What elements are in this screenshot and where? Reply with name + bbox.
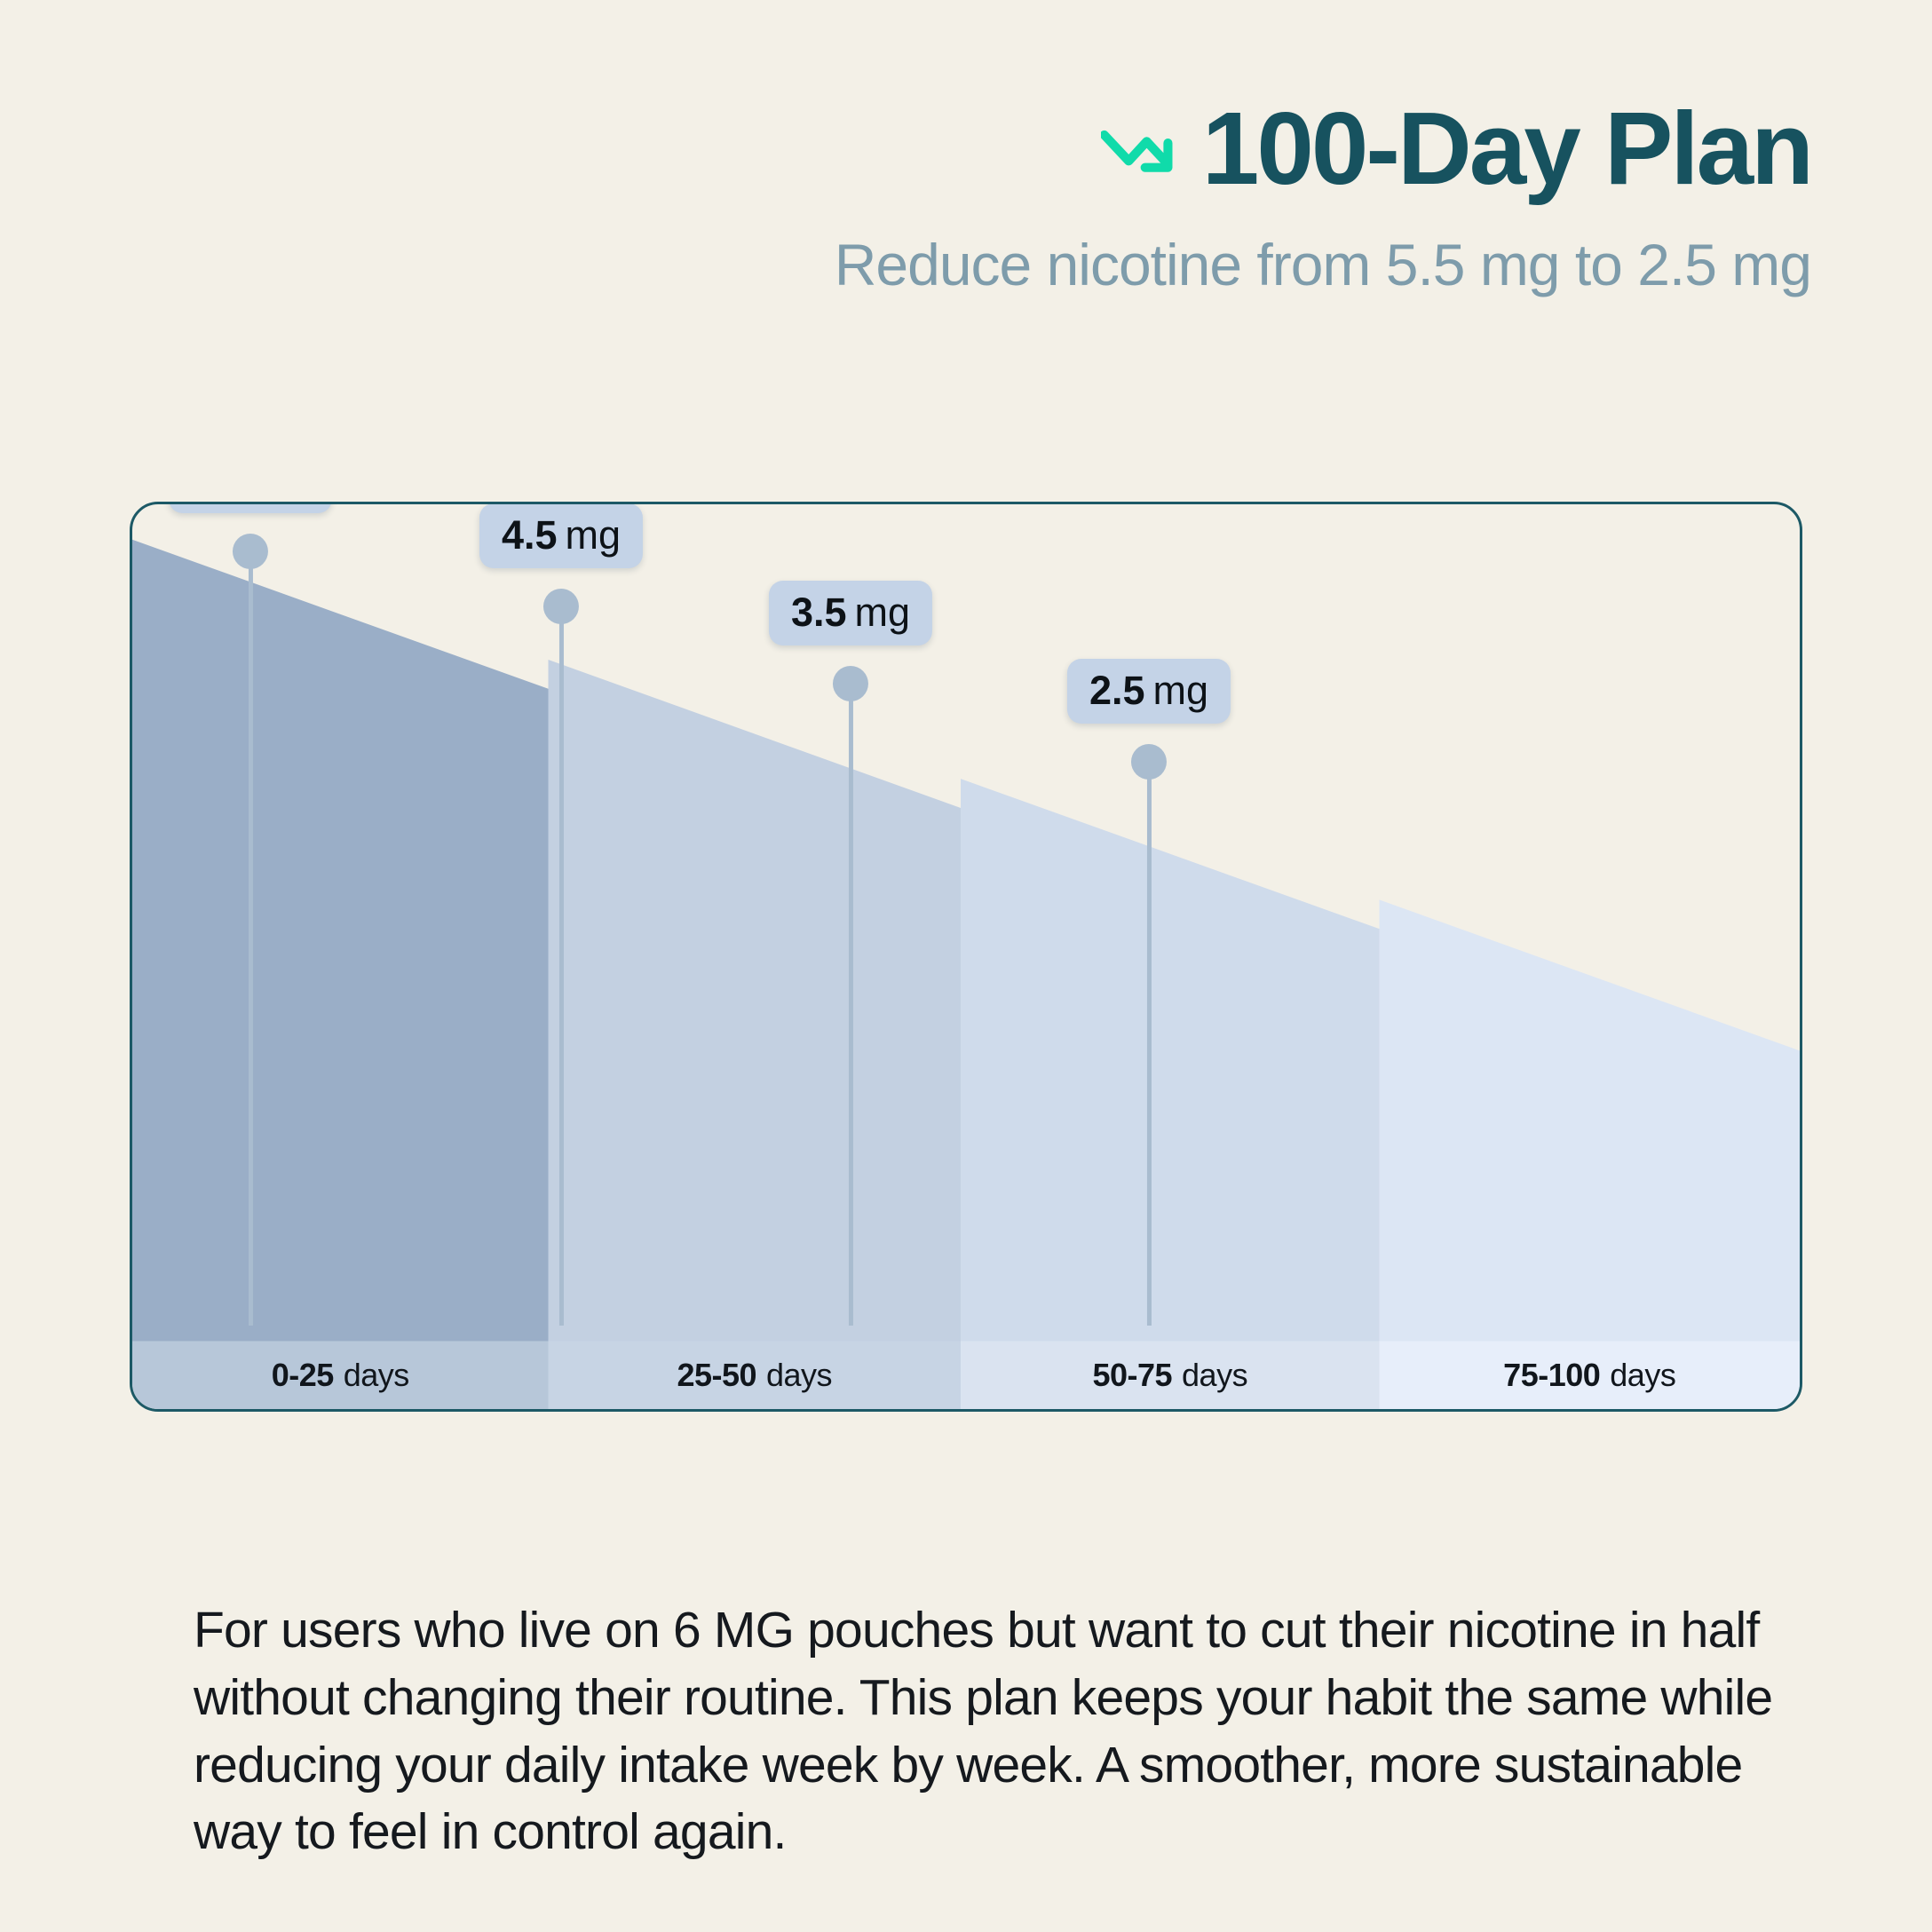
axis-labels-row: 0-25 days 25-50 days 50-75 days 75-100 d… [132, 1341, 1800, 1409]
chart-card: 0-25 days 25-50 days 50-75 days 75-100 d… [130, 502, 1802, 1412]
axis-range-0: 0-25 [272, 1357, 334, 1394]
axis-unit-1: days [766, 1357, 832, 1394]
axis-unit-3: days [1610, 1357, 1675, 1394]
axis-unit-2: days [1182, 1357, 1247, 1394]
page-subtitle: Reduce nicotine from 5.5 mg to 2.5 mg [0, 233, 1811, 297]
axis-label-50-75: 50-75 days [961, 1341, 1380, 1409]
axis-range-1: 25-50 [677, 1357, 756, 1394]
axis-label-0-25: 0-25 days [132, 1341, 549, 1409]
area-segment-3 [961, 779, 1379, 1341]
page-title: 100-Day Plan [1202, 96, 1811, 201]
area-segment-1 [132, 540, 549, 1342]
axis-label-75-100: 75-100 days [1380, 1341, 1800, 1409]
description-paragraph: For users who live on 6 MG pouches but w… [194, 1597, 1801, 1866]
chart-segments [132, 540, 1800, 1342]
area-segment-4 [1380, 899, 1800, 1341]
trending-down-icon [1101, 114, 1183, 195]
axis-unit-0: days [344, 1357, 409, 1394]
axis-label-25-50: 25-50 days [549, 1341, 962, 1409]
marker-value-0: 5.5 [191, 502, 247, 503]
axis-range-2: 50-75 [1092, 1357, 1172, 1394]
marker-unit-0: mg [255, 502, 311, 503]
taper-area-chart [132, 504, 1800, 1409]
header: 100-Day Plan Reduce nicotine from 5.5 mg… [0, 0, 1932, 297]
axis-range-3: 75-100 [1503, 1357, 1600, 1394]
area-segment-2 [549, 660, 962, 1341]
title-row: 100-Day Plan [0, 96, 1811, 201]
